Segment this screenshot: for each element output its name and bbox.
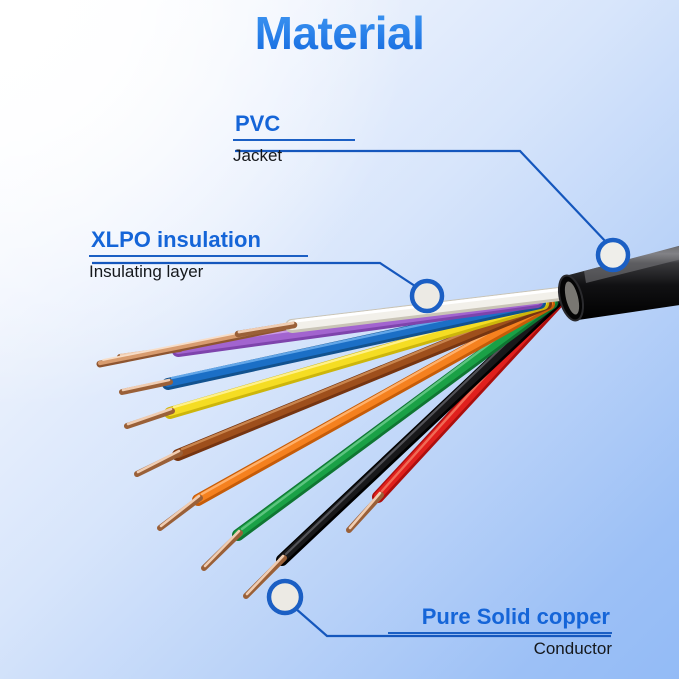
callout-copper-head: Pure Solid copper (388, 605, 612, 632)
callout-pvc-head: PVC (233, 112, 355, 139)
callout-copper: Pure Solid copper Conductor (388, 605, 612, 660)
marker-pvc[interactable] (598, 240, 628, 270)
product-infographic: Material (0, 0, 679, 679)
callout-copper-sub: Conductor (388, 634, 612, 659)
callout-xlpo: XLPO insulation Insulating layer (89, 228, 308, 283)
marker-copper[interactable] (269, 581, 301, 613)
marker-xlpo[interactable] (412, 281, 442, 311)
callout-xlpo-sub: Insulating layer (89, 257, 308, 282)
callout-pvc: PVC Jacket (233, 112, 355, 167)
leader-lines (92, 151, 611, 636)
cable-illustration (0, 0, 679, 679)
callout-pvc-sub: Jacket (233, 141, 355, 166)
wire-fan (100, 289, 568, 596)
callout-xlpo-head: XLPO insulation (89, 228, 308, 255)
